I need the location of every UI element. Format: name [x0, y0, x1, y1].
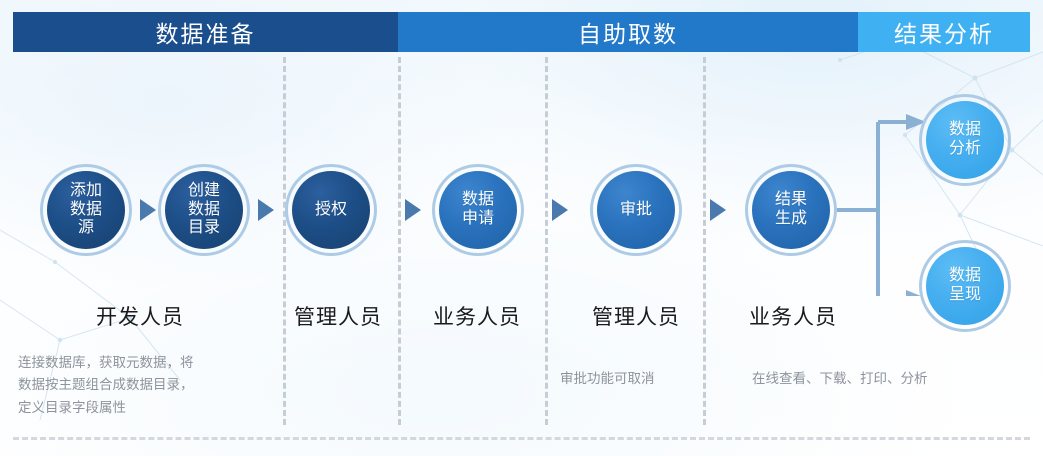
node-create-catalog[interactable]: 创建 数据 目录 [158, 164, 250, 256]
node-label: 数据 分析 [949, 121, 981, 159]
node-label: 数据 呈现 [949, 267, 981, 305]
node-data-analysis[interactable]: 数据 分析 [919, 94, 1011, 186]
node-data-presentation[interactable]: 数据 呈现 [919, 240, 1011, 332]
node-approval[interactable]: 审批 [590, 164, 682, 256]
node-data-request[interactable]: 数据 申请 [432, 164, 524, 256]
node-authorize[interactable]: 授权 [285, 164, 377, 256]
role-label-manager-2: 管理人员 [572, 301, 700, 331]
role-text: 开发人员 [96, 306, 184, 329]
phase-band-result-analysis: 结果分析 [858, 12, 1030, 52]
node-label: 结果 生成 [775, 191, 807, 229]
node-label: 授权 [315, 201, 347, 220]
node-add-data-source[interactable]: 添加 数据 源 [40, 164, 132, 256]
role-label-business-1: 业务人员 [425, 301, 529, 331]
phase-band-label: 自助取数 [578, 15, 678, 49]
description-result: 在线查看、下载、打印、分析 [752, 368, 992, 390]
node-label: 数据 申请 [462, 191, 494, 229]
role-label-business-2: 业务人员 [738, 301, 848, 331]
role-label-manager-1: 管理人员 [288, 301, 388, 331]
description-approval: 审批功能可取消 [560, 368, 720, 390]
phase-band-data-preparation: 数据准备 [13, 12, 398, 52]
arrow-step-4-to-5 [552, 199, 568, 221]
role-text: 业务人员 [749, 306, 837, 329]
arrow-step-2-to-3 [258, 199, 274, 221]
node-result-generate[interactable]: 结果 生成 [745, 164, 837, 256]
lane-divider-3 [545, 57, 548, 425]
phase-band-label: 结果分析 [894, 15, 994, 49]
lane-divider-2 [398, 57, 401, 425]
node-label: 添加 数据 源 [70, 182, 102, 239]
role-text: 业务人员 [433, 306, 521, 329]
phase-band-self-service: 自助取数 [398, 12, 858, 52]
node-label: 审批 [620, 201, 652, 220]
flowchart-diagram: 数据准备 自助取数 结果分析 添加 数据 源 创建 数据 目录 [0, 0, 1043, 456]
role-text: 管理人员 [294, 306, 382, 329]
lane-divider-1 [283, 57, 286, 425]
phase-band-label: 数据准备 [156, 15, 256, 49]
arrow-step-3-to-4 [405, 199, 421, 221]
role-label-developer: 开发人员 [40, 301, 240, 331]
description-data-preparation: 连接数据库，获取元数据，将 数据按主题组合成数据目录， 定义目录字段属性 [18, 352, 274, 419]
arrow-step-1-to-2 [140, 199, 156, 221]
bottom-dashed-rule [13, 437, 1030, 440]
role-text: 管理人员 [592, 306, 680, 329]
node-label: 创建 数据 目录 [188, 182, 220, 239]
arrow-step-5-to-6 [710, 199, 726, 221]
